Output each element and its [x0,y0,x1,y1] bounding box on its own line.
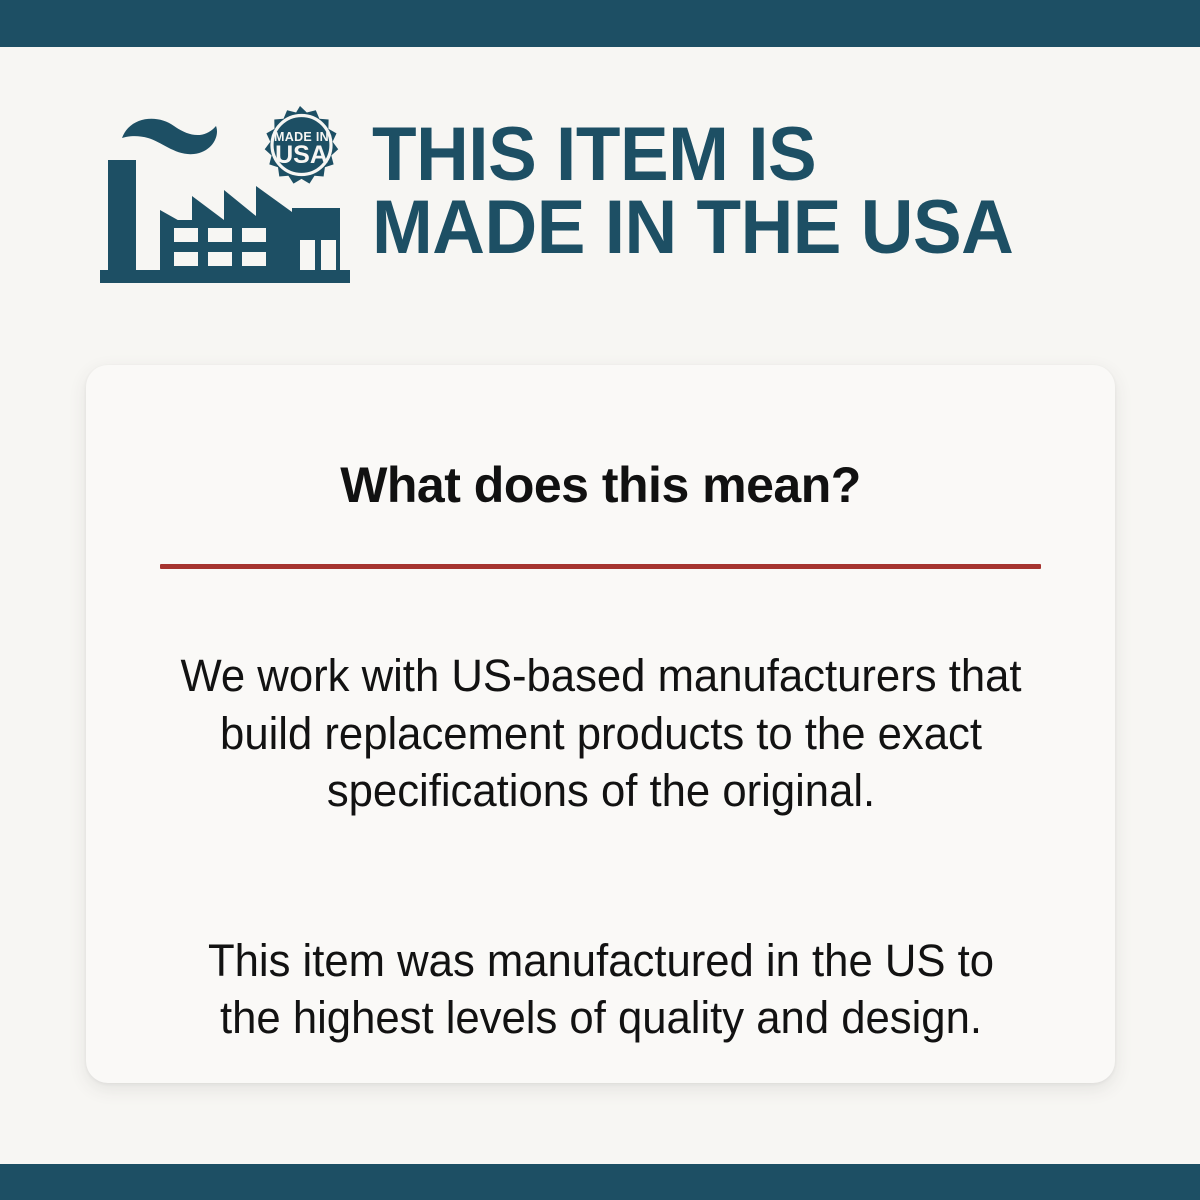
made-in-usa-badge-icon: MADE IN USA [261,102,342,188]
content-stage: MADE IN USA THIS ITEM IS MADE IN THE USA… [0,47,1200,1164]
page-title-line-2: MADE IN THE USA [372,192,1013,265]
page-root: MADE IN USA THIS ITEM IS MADE IN THE USA… [0,0,1200,1200]
factory-logo: MADE IN USA [100,100,350,285]
card-heading: What does this mean? [146,456,1055,514]
page-title: THIS ITEM IS MADE IN THE USA [372,119,1013,265]
building-base [100,270,350,283]
bottom-accent-bar [0,1164,1200,1200]
smoke-icon [122,118,217,153]
chimney-icon [108,160,136,270]
top-accent-bar [0,0,1200,47]
card-paragraph-1: We work with US-based manufacturers that… [174,647,1028,820]
badge-line-2: USA [275,141,328,169]
card-paragraph-2: This item was manufactured in the US to … [174,932,1028,1047]
page-title-line-1: THIS ITEM IS [372,119,1013,192]
factory-icon: MADE IN USA [100,100,350,285]
info-card: What does this mean? We work with US-bas… [86,365,1115,1083]
red-divider [160,564,1041,569]
header-banner: MADE IN USA THIS ITEM IS MADE IN THE USA [0,92,1200,292]
